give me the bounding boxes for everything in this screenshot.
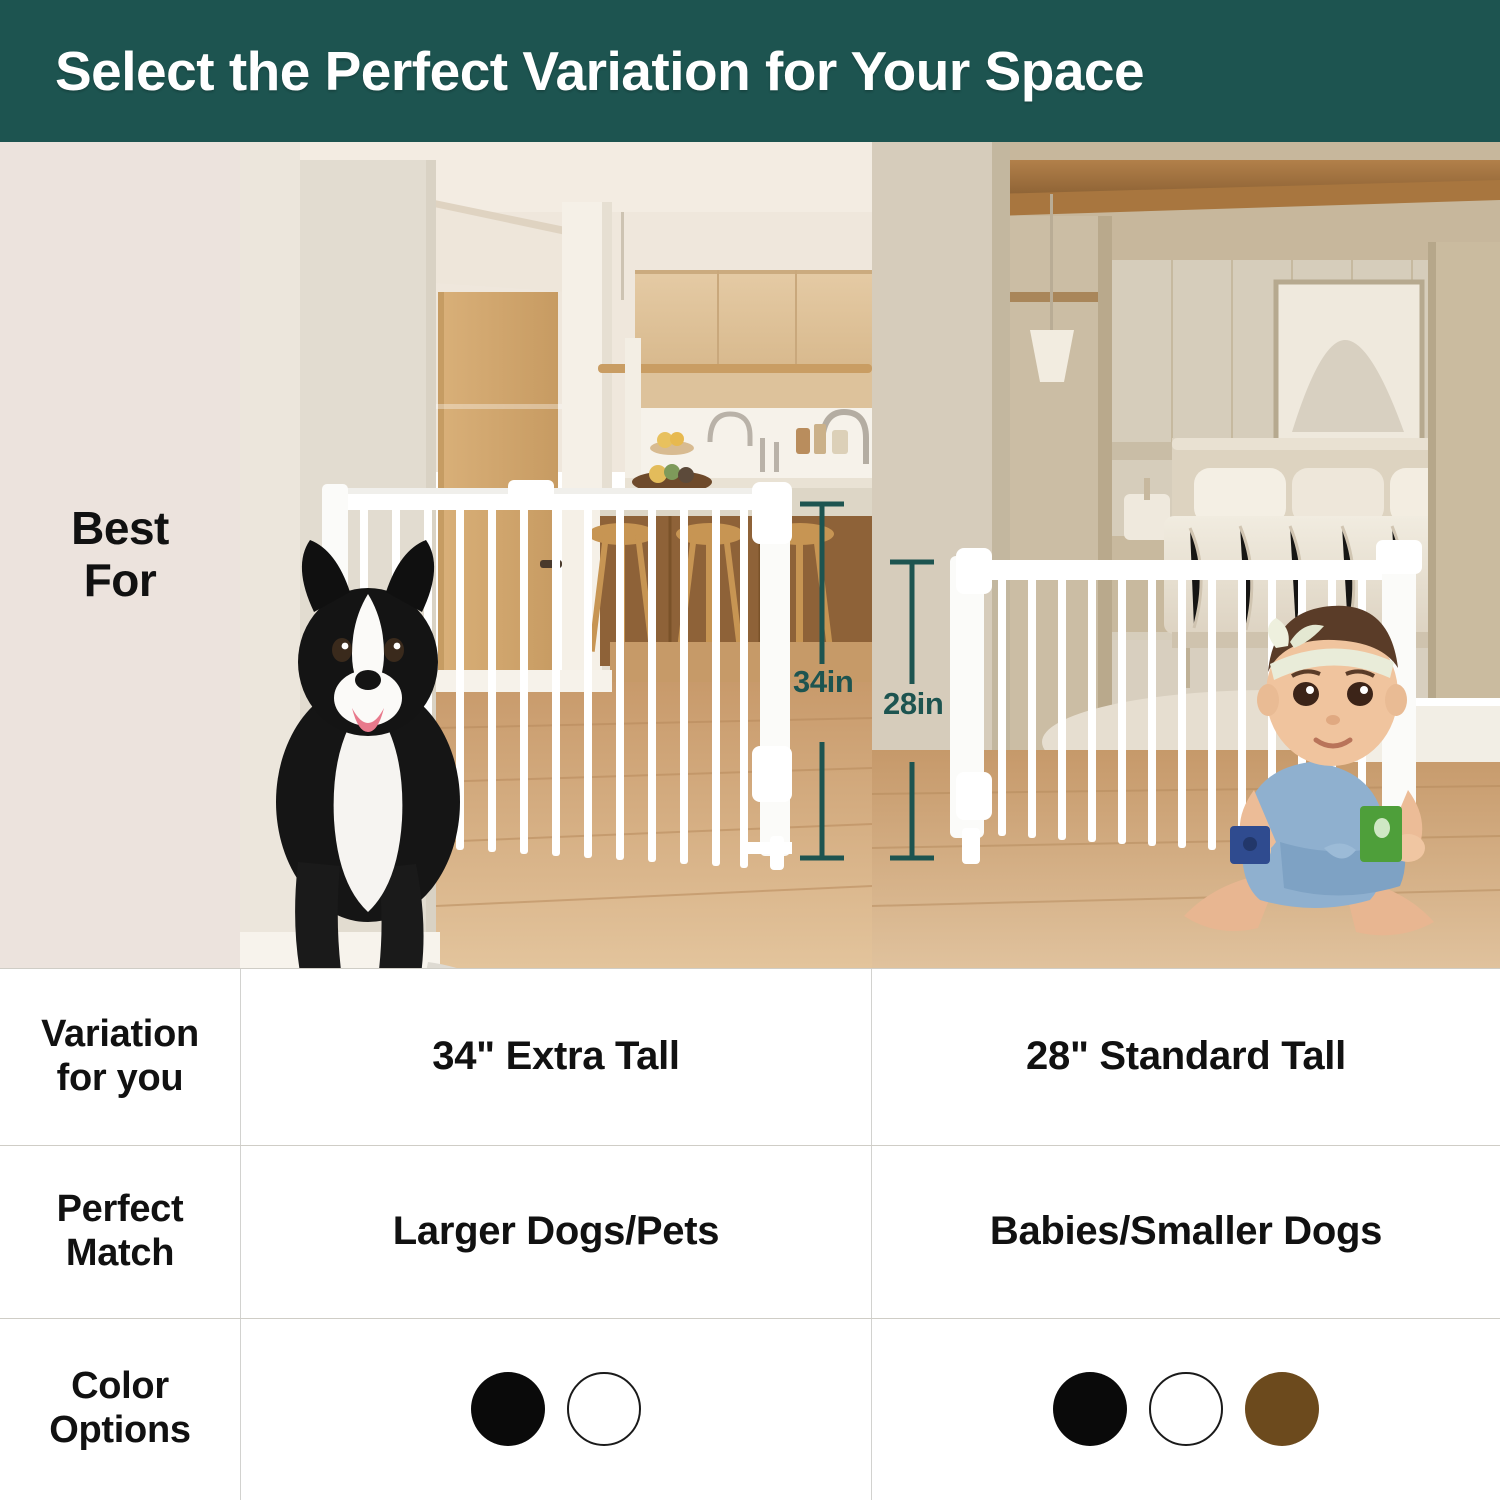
best-for-line2: For (84, 554, 157, 606)
cell-variation-extra-tall: 34" Extra Tall (240, 968, 872, 1145)
kitchen-scene-illustration (240, 142, 872, 968)
color-swatch-black[interactable] (1053, 1372, 1127, 1446)
cell-perfect-match-extra-tall: Larger Dogs/Pets (240, 1145, 872, 1318)
perfect-match-label: Perfect Match (57, 1188, 184, 1275)
color-swatch-brown[interactable] (1245, 1372, 1319, 1446)
perfect-match-value-standard-tall: Babies/Smaller Dogs (990, 1209, 1382, 1254)
color-swatch-white[interactable] (1149, 1372, 1223, 1446)
column-divider-right (871, 968, 872, 1500)
cell-perfect-match-standard-tall: Babies/Smaller Dogs (872, 1145, 1500, 1318)
cell-variation-standard-tall: 28" Standard Tall (872, 968, 1500, 1145)
perfect-match-value-extra-tall: Larger Dogs/Pets (393, 1209, 719, 1254)
photo-bedroom-with-baby (872, 142, 1500, 968)
perfect-match-line1: Perfect (57, 1188, 184, 1230)
color-options-line2: Options (49, 1409, 190, 1451)
color-swatch-black[interactable] (471, 1372, 545, 1446)
row-divider-3 (0, 1318, 1500, 1319)
dimension-label-34in: 34in (793, 664, 853, 700)
perfect-match-line2: Match (66, 1232, 174, 1274)
cell-colors-standard-tall (872, 1318, 1500, 1500)
best-for-line1: Best (71, 502, 169, 554)
comparison-infographic: Select the Perfect Variation for Your Sp… (0, 0, 1500, 1500)
variation-line1: Variation (41, 1013, 199, 1055)
swatch-group-standard-tall (1053, 1372, 1319, 1446)
row-best-for: Best For (0, 142, 1500, 968)
row-divider-2 (0, 1145, 1500, 1146)
color-options-label: Color Options (49, 1365, 190, 1452)
variation-value-extra-tall: 34" Extra Tall (432, 1034, 679, 1079)
color-options-line1: Color (71, 1365, 169, 1407)
row-label-variation: Variation for you (0, 968, 240, 1145)
row-label-perfect-match: Perfect Match (0, 1145, 240, 1318)
variation-label: Variation for you (41, 1013, 199, 1100)
variation-line2: for you (57, 1057, 184, 1099)
row-divider-1 (0, 968, 1500, 969)
best-for-label: Best For (71, 503, 169, 606)
header-banner: Select the Perfect Variation for Your Sp… (0, 0, 1500, 142)
color-swatch-white[interactable] (567, 1372, 641, 1446)
swatch-group-extra-tall (471, 1372, 641, 1446)
dimension-label-28in: 28in (883, 686, 943, 722)
cell-colors-extra-tall (240, 1318, 872, 1500)
row-label-color-options: Color Options (0, 1318, 240, 1500)
photo-kitchen-with-dog (240, 142, 872, 968)
variation-value-standard-tall: 28" Standard Tall (1026, 1034, 1346, 1079)
row-label-best-for: Best For (0, 142, 240, 968)
comparison-table: Best For (0, 142, 1500, 1500)
page-title: Select the Perfect Variation for Your Sp… (0, 39, 1144, 103)
column-divider-left (240, 968, 241, 1500)
bedroom-scene-illustration (872, 142, 1500, 968)
